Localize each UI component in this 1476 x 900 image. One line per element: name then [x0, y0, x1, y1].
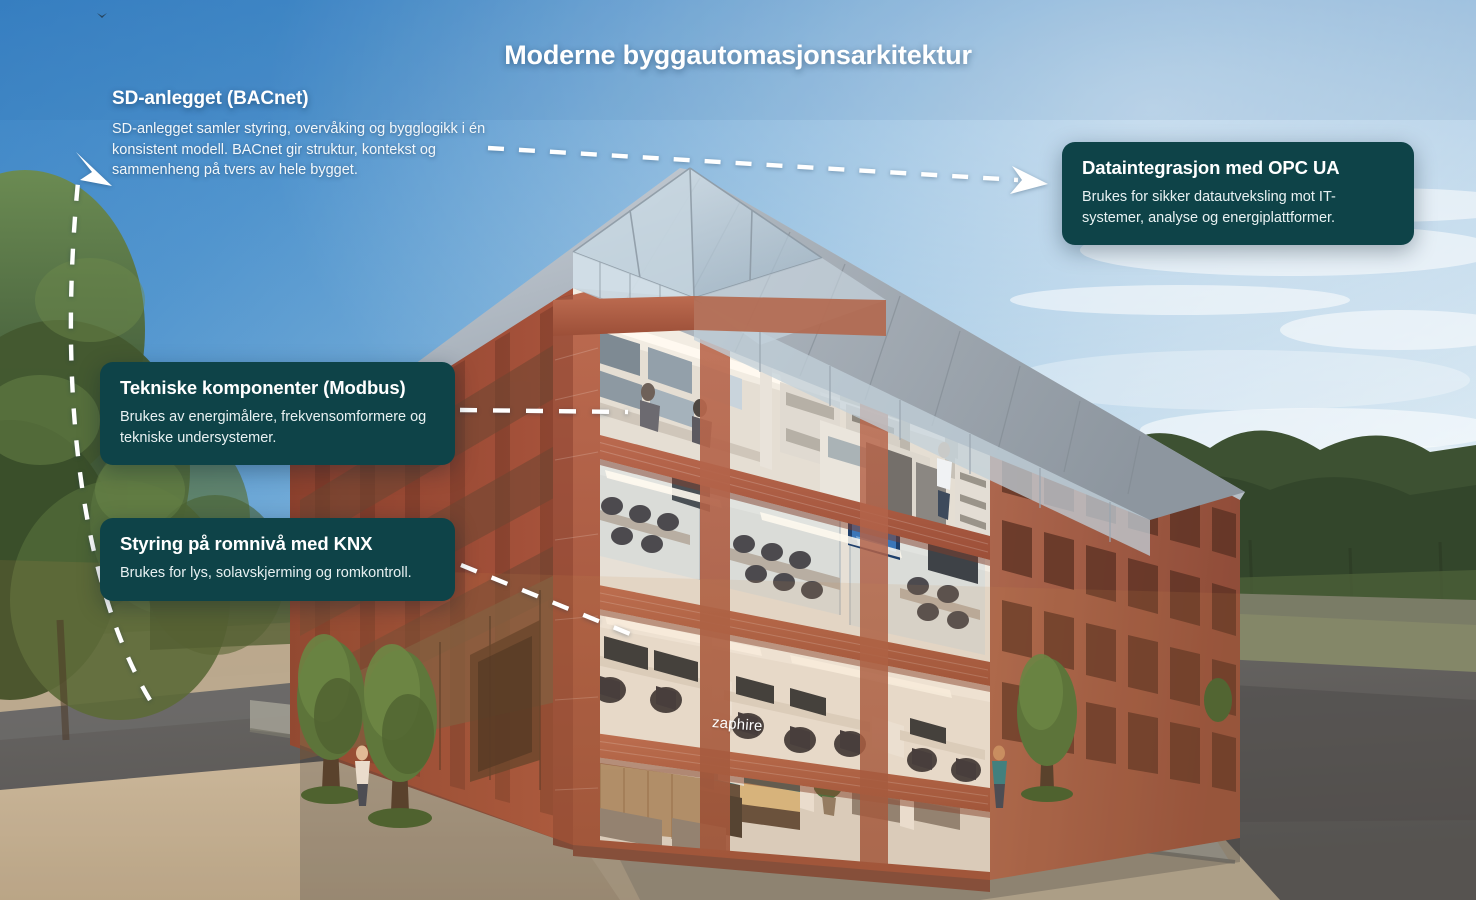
parapet-cap: [553, 296, 694, 336]
callout-bacnet-heading: SD-anlegget (BACnet): [112, 88, 492, 110]
callout-bacnet: SD-anlegget (BACnet) SD-anlegget samler …: [112, 88, 492, 181]
callout-card-opcua: Dataintegrasjon med OPC UA Brukes for si…: [1062, 142, 1414, 245]
illustration-canvas: Moderne byggautomasjonsarkitektur SD-anl…: [0, 0, 1476, 900]
callout-knx-heading: Styring på romnivå med KNX: [120, 533, 435, 555]
callout-bacnet-body: SD-anlegget samler styring, overvåking o…: [112, 119, 492, 181]
callout-modbus-body: Brukes av energimålere, frekvensomformer…: [120, 407, 435, 448]
callout-modbus-heading: Tekniske komponenter (Modbus): [120, 377, 435, 399]
callout-opcua-heading: Dataintegrasjon med OPC UA: [1082, 157, 1394, 179]
callout-card-modbus: Tekniske komponenter (Modbus) Brukes av …: [100, 362, 455, 465]
callout-knx-body: Brukes for lys, solavskjerming og romkon…: [120, 563, 435, 584]
callout-card-knx: Styring på romnivå med KNX Brukes for ly…: [100, 518, 455, 601]
page-title: Moderne byggautomasjonsarkitektur: [0, 40, 1476, 71]
callout-opcua-body: Brukes for sikker datautveksling mot IT-…: [1082, 187, 1394, 228]
